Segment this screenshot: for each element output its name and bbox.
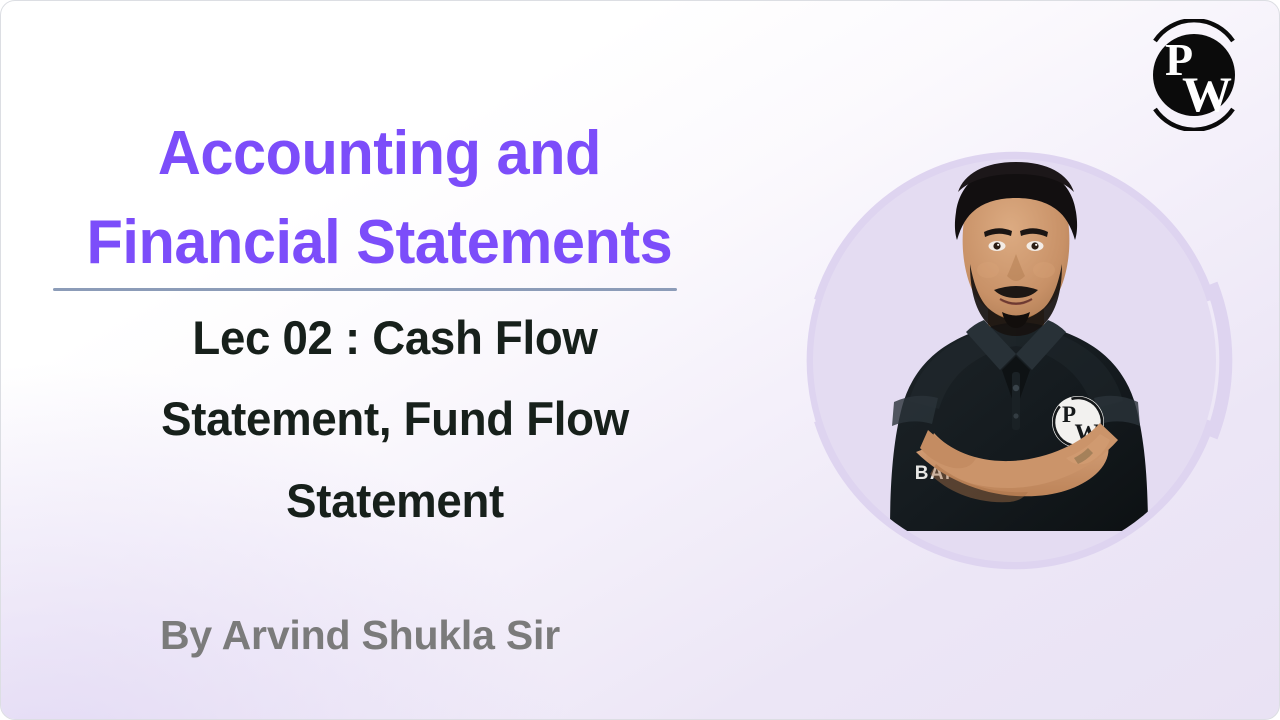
title-divider — [53, 288, 677, 291]
lecture-title: Lec 02 : Cash Flow Statement, Fund Flow … — [56, 297, 735, 541]
text-column: Accounting and Financial Statements Lec … — [1, 1, 761, 720]
instructor-portrait-group: P W BANKING WA — [788, 134, 1241, 587]
instructor-photo: P W BANKING WA — [788, 134, 1241, 587]
course-title: Accounting and Financial Statements — [53, 109, 706, 288]
lecture-thumbnail-slide: Accounting and Financial Statements Lec … — [0, 0, 1280, 720]
physics-wallah-logo: P W — [1133, 19, 1255, 131]
logo-letter-w: W — [1182, 66, 1232, 122]
instructor-byline: By Arvind Shukla Sir — [45, 612, 675, 659]
